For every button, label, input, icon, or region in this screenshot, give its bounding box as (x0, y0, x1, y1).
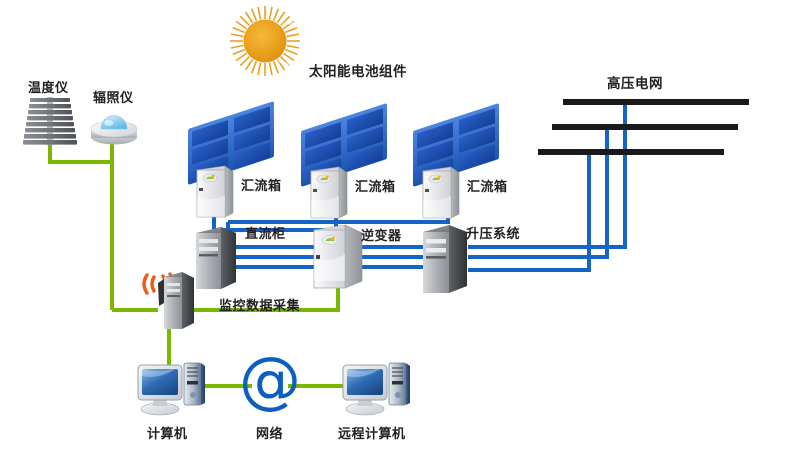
label-boost-system: 升压系统 (466, 228, 520, 241)
label-remote-computer: 远程计算机 (338, 428, 406, 441)
dome-sensor-icon (91, 116, 137, 145)
hv-grid-lines-group (538, 102, 749, 152)
label-combiner-box-2: 汇流箱 (355, 181, 396, 194)
system-diagram-canvas: @ 温度仪 辐照仪 太阳能电池组件 高压电网 汇流箱 汇流箱 汇流箱 直流柜 逆… (0, 0, 798, 465)
sun-icon (230, 6, 313, 76)
label-irradiance-meter: 辐照仪 (93, 92, 134, 105)
signal-wire-temp-sensor (50, 145, 112, 162)
louvre-sensor-icon (23, 97, 77, 145)
cabinet-icon (314, 225, 362, 288)
label-temperature-meter: 温度仪 (28, 82, 69, 95)
cabinet-icon (423, 167, 459, 218)
cabinet-icon (197, 166, 233, 217)
label-combiner-box-1: 汇流箱 (241, 180, 282, 193)
label-monitoring-daq: 监控数据采集 (219, 300, 300, 313)
label-hv-grid: 高压电网 (607, 78, 663, 92)
at-symbol-icon: @ (239, 343, 301, 416)
dc-wire-boost-grid-3 (468, 151, 589, 270)
tower-antenna-icon (144, 272, 194, 329)
tower-server-icon (196, 227, 236, 289)
desktop-pc-icon (138, 363, 205, 415)
label-network: 网络 (256, 428, 283, 441)
cabinet-icon (311, 167, 347, 218)
label-dc-cabinet: 直流柜 (245, 228, 286, 241)
tower-server-icon (423, 225, 467, 293)
label-combiner-box-3: 汇流箱 (467, 181, 508, 194)
label-inverter: 逆变器 (361, 230, 402, 243)
desktop-pc-icon (343, 363, 410, 415)
label-computer: 计算机 (147, 428, 188, 441)
svg-text:@: @ (239, 343, 301, 416)
label-pv-modules: 太阳能电池组件 (309, 66, 407, 80)
